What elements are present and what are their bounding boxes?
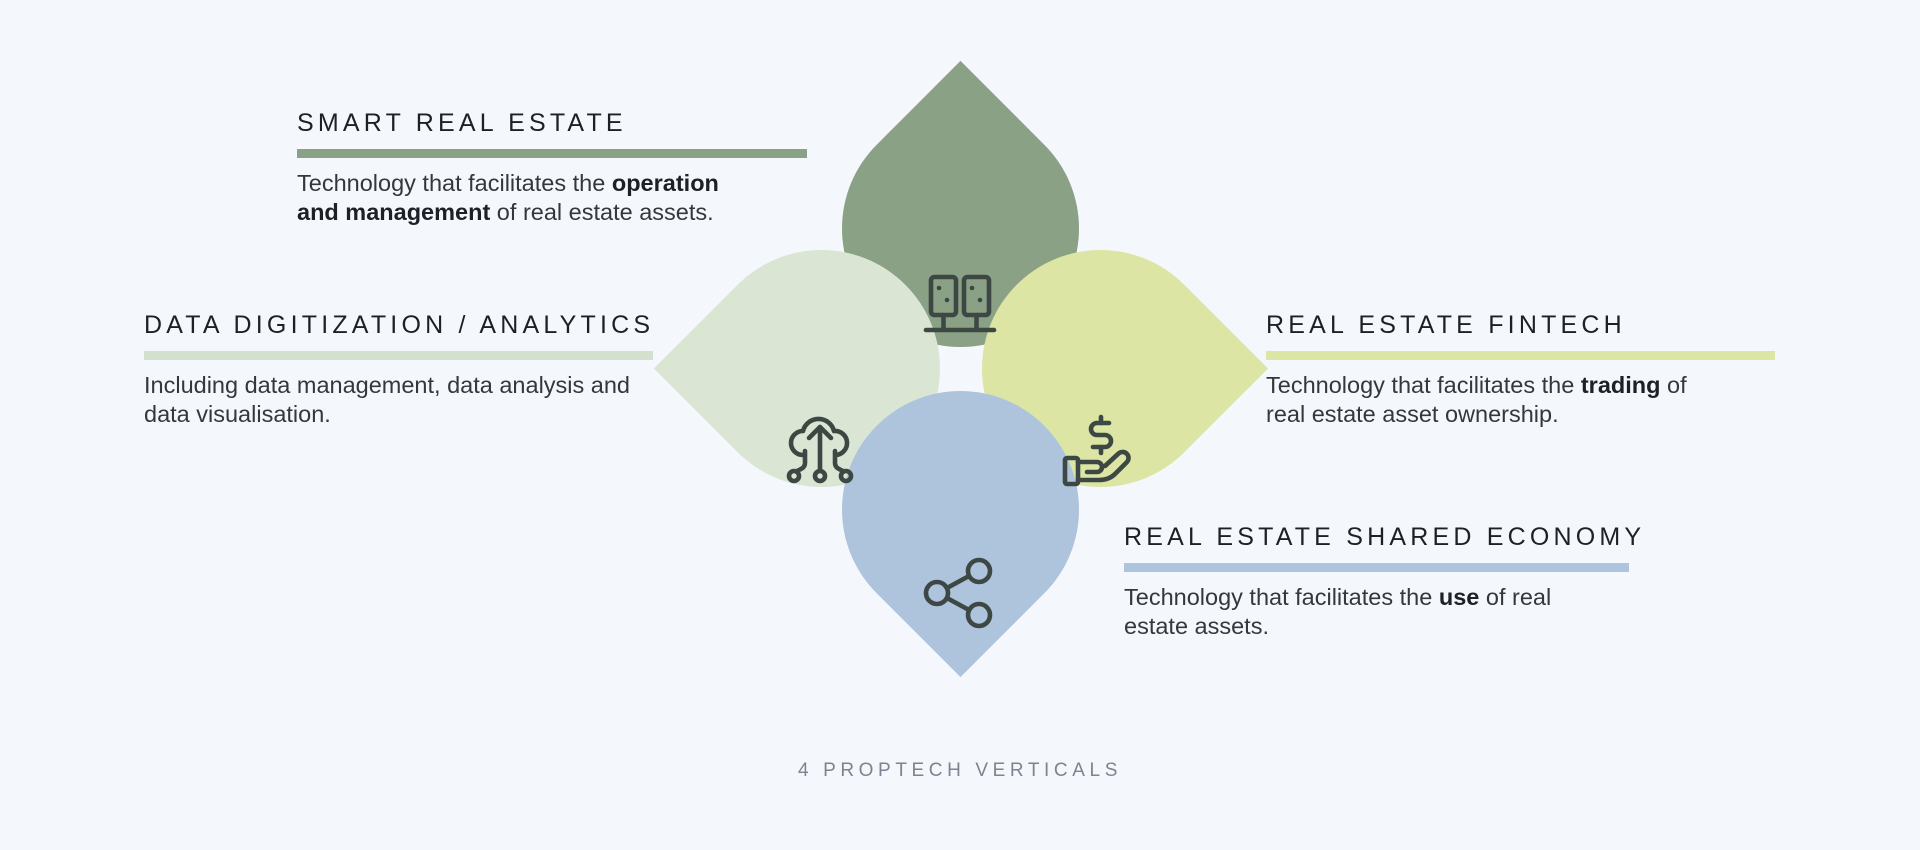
smart-building-icon xyxy=(914,260,1006,352)
vertical-rule-real-estate-fintech xyxy=(1266,351,1775,360)
vertical-body-lead-smart: Technology that facilitates the xyxy=(297,170,612,196)
vertical-block-data-digitization-analytics: DATA DIGITIZATION / ANALYTICS Including … xyxy=(144,312,684,429)
vertical-body-bold-fintech: trading xyxy=(1581,372,1661,398)
cloud-data-upload-icon xyxy=(774,405,866,497)
vertical-body-real-estate-fintech: Technology that facilitates the trading … xyxy=(1266,371,1706,429)
share-network-icon xyxy=(914,547,1006,639)
vertical-body-lead-data: Including data management, data analysis… xyxy=(144,372,630,427)
footer-caption: 4 PROPTECH VERTICALS xyxy=(0,760,1920,782)
hand-dollar-icon xyxy=(1054,405,1146,497)
vertical-heading-data-digitization-analytics: DATA DIGITIZATION / ANALYTICS xyxy=(144,312,684,340)
vertical-body-bold-shared: use xyxy=(1439,584,1480,610)
vertical-rule-data-digitization-analytics xyxy=(144,351,653,360)
vertical-body-lead-fintech: Technology that facilitates the xyxy=(1266,372,1581,398)
vertical-heading-real-estate-fintech: REAL ESTATE FINTECH xyxy=(1266,312,1806,340)
petal-diagram xyxy=(703,110,1219,638)
vertical-body-tail-smart: of real estate assets. xyxy=(490,199,713,225)
vertical-body-data-digitization-analytics: Including data management, data analysis… xyxy=(144,371,634,429)
vertical-block-real-estate-fintech: REAL ESTATE FINTECH Technology that faci… xyxy=(1266,312,1806,429)
vertical-body-smart-real-estate: Technology that facilitates the operatio… xyxy=(297,169,767,227)
infographic-canvas: SMART REAL ESTATE Technology that facili… xyxy=(0,0,1920,850)
